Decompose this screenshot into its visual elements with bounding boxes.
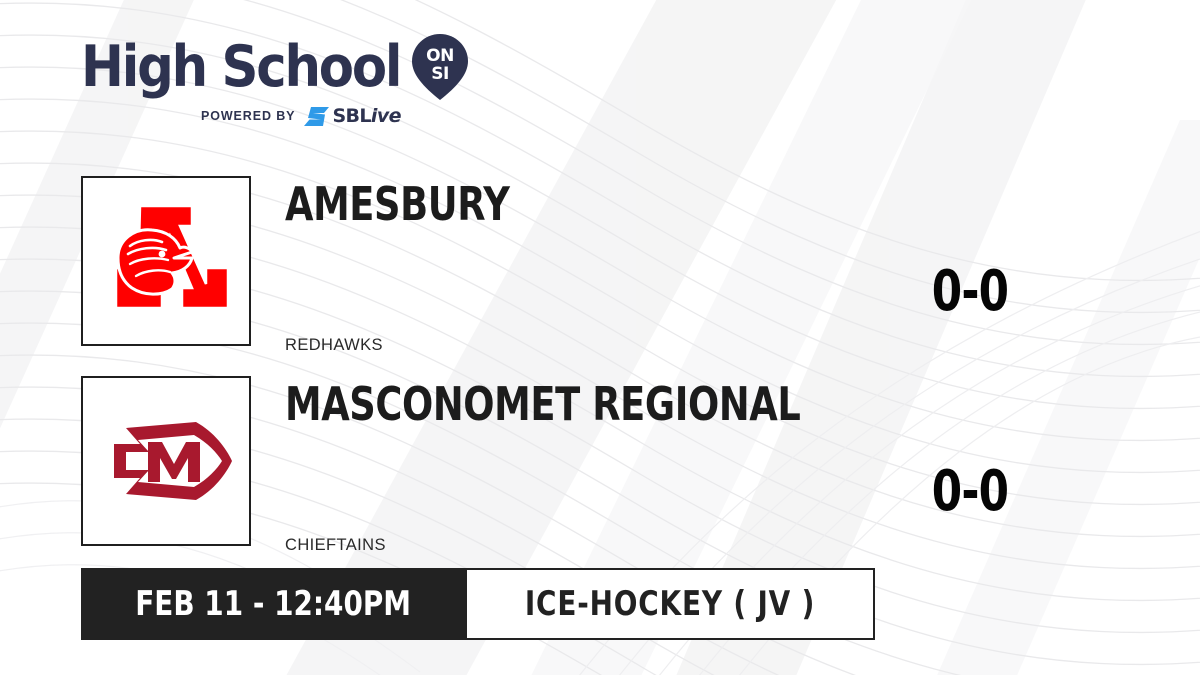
sblive-wordmark-bold: SBL <box>332 105 370 127</box>
team-name: AMESBURY <box>285 178 781 230</box>
brand-header: High School ON SI POWERED BY SBLive <box>81 34 511 134</box>
team-name: MASCONOMET REGIONAL <box>285 378 781 430</box>
team-name-wrap: MASCONOMET REGIONAL <box>285 376 905 430</box>
team-record: 0-0 <box>900 264 1040 320</box>
masconomet-arrowhead-m-logo-icon <box>96 406 236 516</box>
game-sport-chip: ICE-HOCKEY ( JV ) <box>465 568 875 640</box>
sblive-wordmark: SBLive <box>332 107 400 126</box>
team-mascot: CHIEFTAINS <box>285 536 386 555</box>
sblive-bolt-icon <box>304 107 330 126</box>
team-name-wrap: AMESBURY <box>285 176 905 230</box>
pin-line-si: SI <box>431 64 449 84</box>
sblive-wordmark-italic: ive <box>371 105 401 127</box>
team-row: AMESBURY REDHAWKS 0-0 <box>0 176 1200 376</box>
sblive-logo: SBLive <box>304 106 400 126</box>
on-si-pin-icon: ON SI <box>411 33 469 101</box>
team-mascot: REDHAWKS <box>285 336 383 355</box>
team-record: 0-0 <box>900 464 1040 520</box>
game-datetime-chip: FEB 11 - 12:40PM <box>81 568 465 640</box>
game-sport-label: ICE-HOCKEY ( JV ) <box>525 587 815 621</box>
team-logo-box <box>81 376 251 546</box>
game-datetime-label: FEB 11 - 12:40PM <box>135 587 411 621</box>
brand-logo-row: High School ON SI <box>81 34 511 100</box>
team-logo-box <box>81 176 251 346</box>
team-row: MASCONOMET REGIONAL CHIEFTAINS 0-0 <box>0 376 1200 576</box>
game-info-bar: FEB 11 - 12:40PM ICE-HOCKEY ( JV ) <box>81 568 875 640</box>
powered-by-row: POWERED BY SBLive <box>201 106 511 126</box>
pin-line-on: ON <box>426 46 454 66</box>
brand-wordmark: High School <box>81 36 400 98</box>
scoreboard-card: High School ON SI POWERED BY SBLive <box>0 0 1200 675</box>
powered-by-label: POWERED BY <box>201 109 295 123</box>
amesbury-hawk-a-logo-icon <box>96 196 236 326</box>
